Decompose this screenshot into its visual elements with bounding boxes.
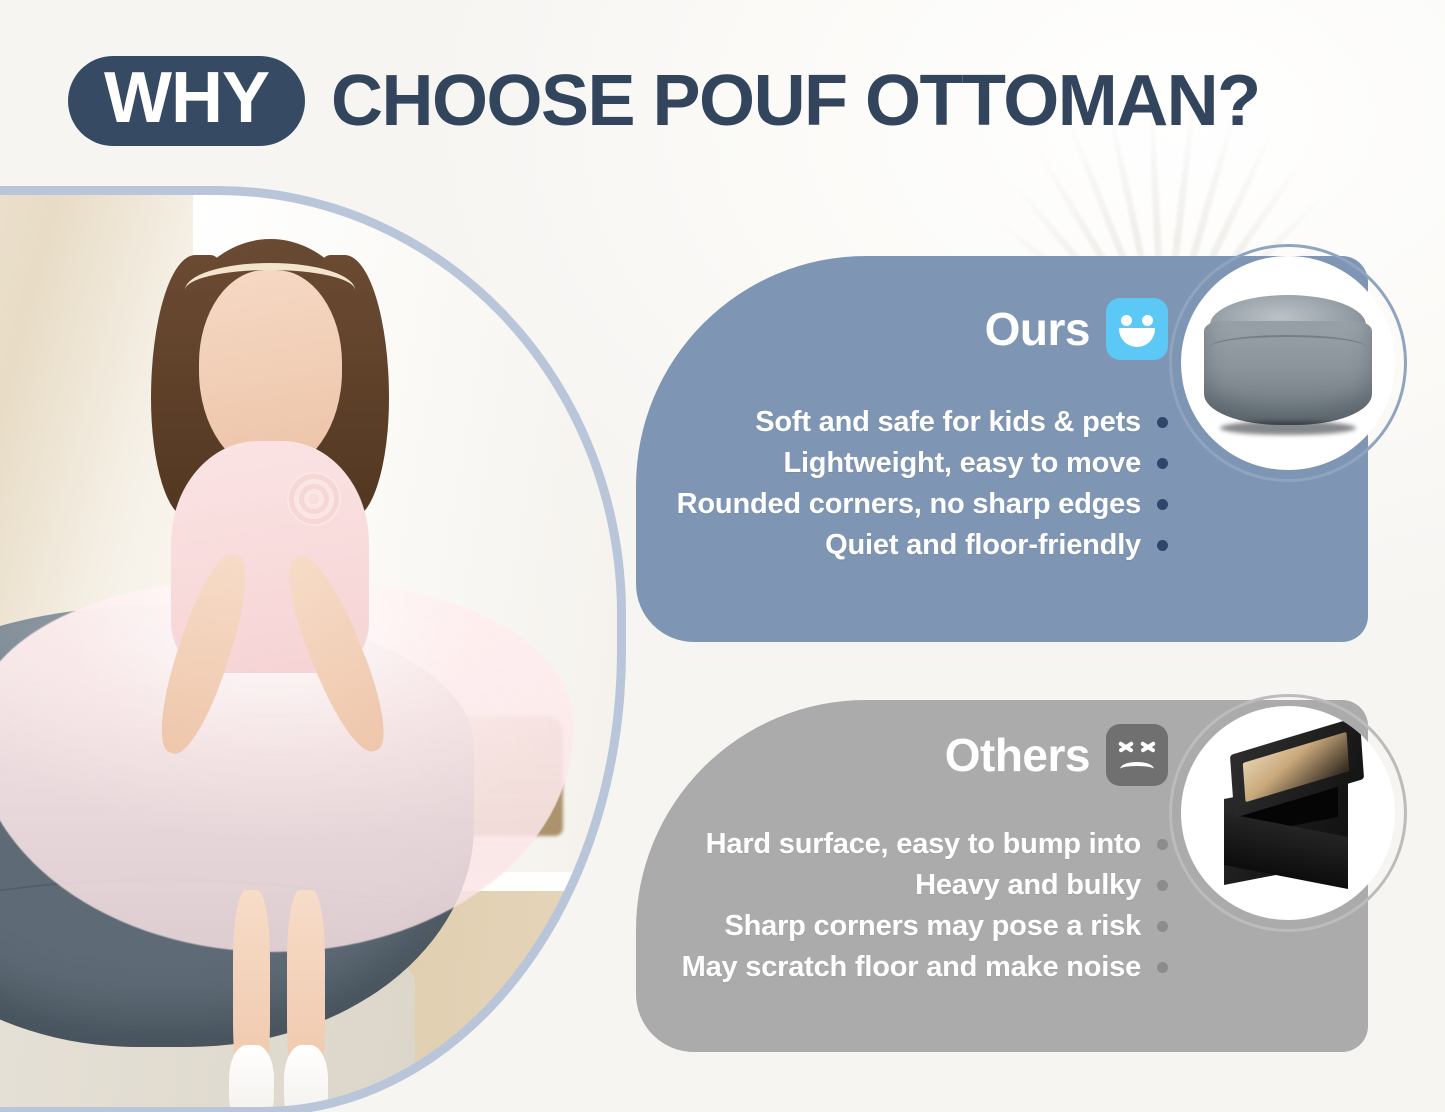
- list-item: Lightweight, easy to move: [783, 447, 1168, 480]
- smile-mouth: [1119, 328, 1155, 347]
- squinting-frown-face-icon: [1106, 724, 1168, 786]
- bullet-dot-icon: [1157, 417, 1168, 428]
- hero-girl: [97, 208, 437, 982]
- bullet-label: Hard surface, easy to bump into: [706, 828, 1141, 861]
- bullet-dot-icon: [1157, 962, 1168, 973]
- bullet-label: Lightweight, easy to move: [783, 447, 1141, 480]
- why-badge: WHY: [68, 56, 305, 146]
- panel-others-bullets: Hard surface, easy to bump into Heavy an…: [682, 828, 1168, 984]
- girl-sock-right: [284, 1045, 328, 1112]
- hero-scene: [0, 190, 622, 1112]
- smiling-face-icon: [1106, 298, 1168, 360]
- bullet-label: Quiet and floor-friendly: [825, 529, 1141, 562]
- list-item: Heavy and bulky: [915, 869, 1168, 902]
- bullet-label: Rounded corners, no sharp edges: [677, 488, 1141, 521]
- panel-ours-header: Ours: [985, 298, 1168, 360]
- bullet-label: Heavy and bulky: [915, 869, 1141, 902]
- bullet-dot-icon: [1157, 921, 1168, 932]
- page-title: WHY CHOOSE POUF OTTOMAN?: [68, 56, 1260, 146]
- bullet-dot-icon: [1157, 458, 1168, 469]
- hero-photo: [0, 190, 622, 1112]
- pouf-shadow: [1220, 421, 1356, 435]
- x-eye-left: [1118, 738, 1134, 754]
- bullet-label: May scratch floor and make noise: [682, 951, 1141, 984]
- panel-others-header: Others: [945, 724, 1168, 786]
- list-item: Sharp corners may pose a risk: [724, 910, 1168, 943]
- list-item: Soft and safe for kids & pets: [755, 406, 1168, 439]
- list-item: Hard surface, easy to bump into: [706, 828, 1168, 861]
- thumb-ours-product: [1181, 256, 1395, 470]
- girl-headband: [185, 263, 355, 317]
- bullet-dot-icon: [1157, 880, 1168, 891]
- bullet-label: Sharp corners may pose a risk: [724, 910, 1141, 943]
- dress-rosette: [287, 472, 341, 526]
- bullet-dot-icon: [1157, 839, 1168, 850]
- girl-sock-left: [229, 1045, 273, 1112]
- pouf-seam: [1210, 335, 1366, 359]
- square-storage-box-illustration: [1200, 733, 1376, 893]
- eye-left: [1121, 315, 1132, 326]
- bullet-dot-icon: [1157, 499, 1168, 510]
- thumb-others-product: [1181, 706, 1395, 920]
- bullet-dot-icon: [1157, 540, 1168, 551]
- bullet-label: Soft and safe for kids & pets: [755, 406, 1141, 439]
- round-pouf-illustration: [1204, 295, 1372, 431]
- x-eye-right: [1140, 738, 1156, 754]
- panel-ours-bullets: Soft and safe for kids & pets Lightweigh…: [677, 406, 1168, 562]
- list-item: Quiet and floor-friendly: [825, 529, 1168, 562]
- panel-ours-title: Ours: [985, 306, 1090, 352]
- list-item: Rounded corners, no sharp edges: [677, 488, 1168, 521]
- list-item: May scratch floor and make noise: [682, 951, 1168, 984]
- infographic-canvas: WHY CHOOSE POUF OTTOMAN?: [0, 0, 1445, 1112]
- eye-right: [1142, 315, 1153, 326]
- panel-others-title: Others: [945, 732, 1090, 778]
- title-text: CHOOSE POUF OTTOMAN?: [331, 65, 1260, 137]
- frown-mouth: [1120, 762, 1154, 776]
